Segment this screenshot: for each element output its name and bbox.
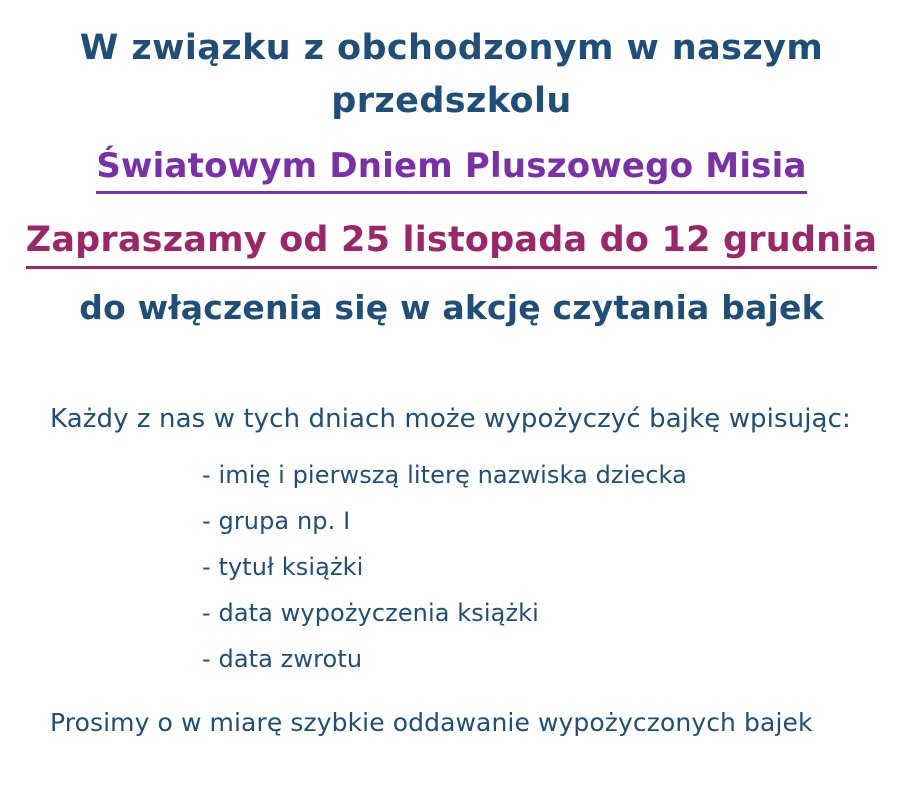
occasion-title: Światowym Dniem Pluszowego Misia (96, 144, 806, 194)
occasion-row: Światowym Dniem Pluszowego Misia (0, 128, 903, 194)
instructions-list: - imię i pierwszą literę nazwiska dzieck… (50, 460, 863, 674)
poster-page: W związku z obchodzonym w naszym przedsz… (0, 0, 903, 795)
call-to-action: do włączenia się w akcję czytania bajek (0, 285, 903, 330)
list-item: - grupa np. I (202, 506, 863, 536)
list-item: - imię i pierwszą literę nazwiska dzieck… (202, 460, 863, 490)
instructions-intro: Każdy z nas w tych dniach może wypożyczy… (50, 402, 863, 436)
list-item: - data zwrotu (202, 644, 863, 674)
invitation-dates: Zapraszamy od 25 listopada do 12 grudnia (26, 218, 878, 269)
body-block: Każdy z nas w tych dniach może wypożyczy… (0, 402, 903, 739)
list-item: - tytuł książki (202, 552, 863, 582)
headline-line-2: przedszkolu (0, 75, 903, 128)
headline-block: W związku z obchodzonym w naszym przedsz… (0, 0, 903, 330)
list-item: - data wypożyczenia książki (202, 598, 863, 628)
closing-request: Prosimy o w miarę szybkie oddawanie wypo… (50, 707, 863, 739)
headline-line-1: W związku z obchodzonym w naszym (0, 22, 903, 75)
invitation-row: Zapraszamy od 25 listopada do 12 grudnia (0, 194, 903, 269)
